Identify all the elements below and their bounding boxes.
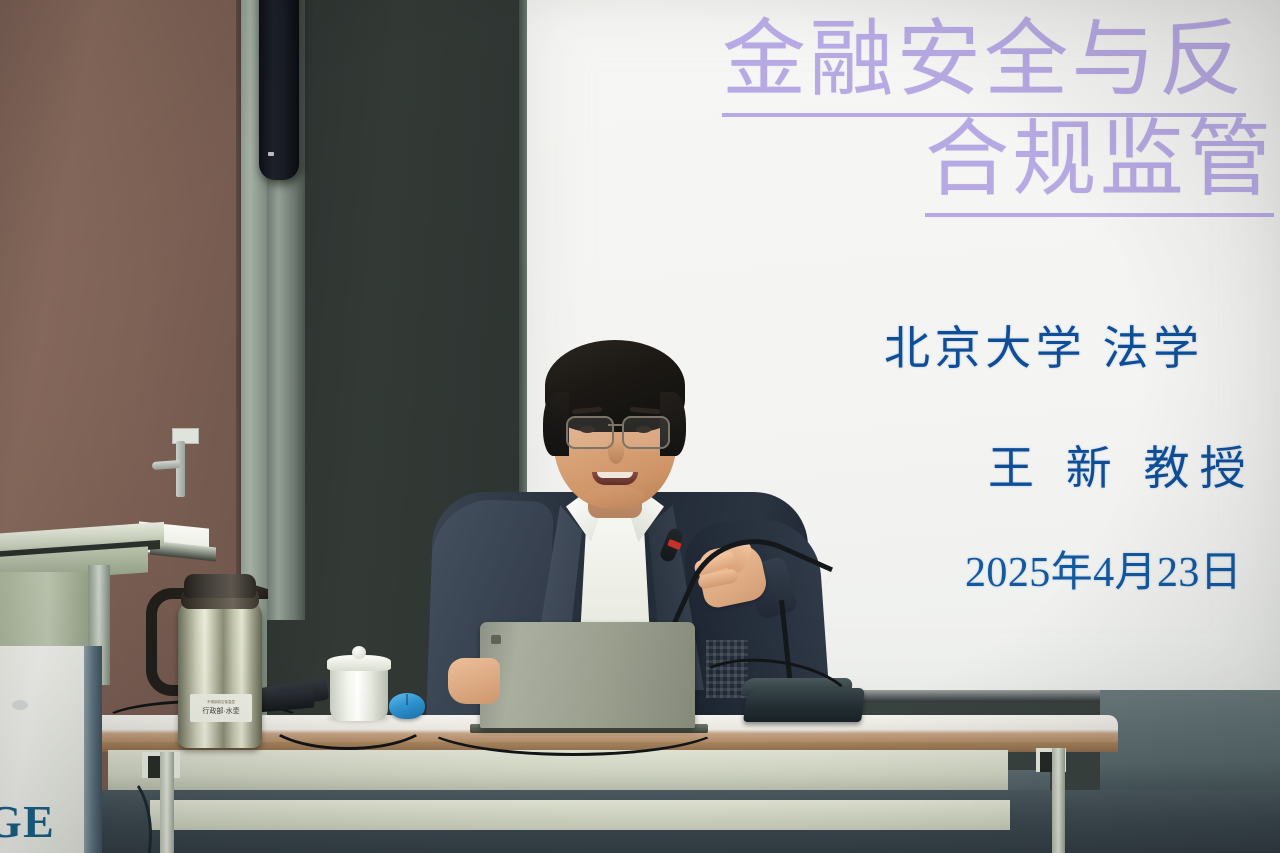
podium-front-edge: [84, 646, 102, 853]
presenter-chin: [585, 486, 645, 508]
presenter-nose: [608, 440, 624, 464]
slide-title-line2-text: 合规监管: [925, 114, 1274, 217]
eyeglasses-lens-left: [566, 416, 614, 449]
teacup-body[interactable]: [330, 663, 388, 721]
teacup-lid-knob[interactable]: [352, 646, 366, 659]
laptop-brand-logo: [491, 635, 501, 644]
thermos-lid[interactable]: [184, 574, 256, 598]
presenter-left-hand: [448, 658, 500, 704]
presenter-teeth: [597, 472, 633, 478]
table-modesty-panel: [108, 750, 1008, 790]
slide-date: 2025年4月23日: [965, 538, 1242, 599]
thermos-label-line2: 行政部·水壶: [190, 706, 252, 718]
laptop-screen-lid[interactable]: [480, 622, 695, 728]
column-speaker-icon: [259, 0, 299, 180]
table-bracket-right-dark: [1040, 752, 1052, 772]
lecture-photo-scene: 金融安全与反 合规监管 北京大学 法学 王 新 教授 2025年4月23日: [0, 0, 1280, 853]
table-leg-right: [1052, 748, 1065, 853]
slide-affiliation: 北京大学 法学: [884, 312, 1204, 378]
podium-decal: [12, 700, 28, 710]
eyeglasses-lens-right: [622, 416, 670, 449]
thermos-label-line1: 不锈钢真空保温壶: [190, 698, 252, 706]
table-leg-left: [160, 752, 174, 853]
eyeglasses-bridge: [608, 424, 624, 426]
thermos-label: 不锈钢真空保温壶 行政部·水壶: [190, 694, 252, 722]
speaker-brand-logo: [268, 152, 274, 156]
thermos-flask[interactable]: [178, 600, 262, 748]
computer-mouse-button-split: [406, 694, 408, 705]
table-modesty-panel-lower: [150, 800, 1010, 830]
slide-title-line2: 合规监管: [925, 92, 1274, 213]
door-handle-plate[interactable]: [176, 441, 185, 497]
slide-presenter-name: 王 新 教授: [988, 432, 1256, 498]
podium-sign-text: GE: [0, 795, 55, 848]
